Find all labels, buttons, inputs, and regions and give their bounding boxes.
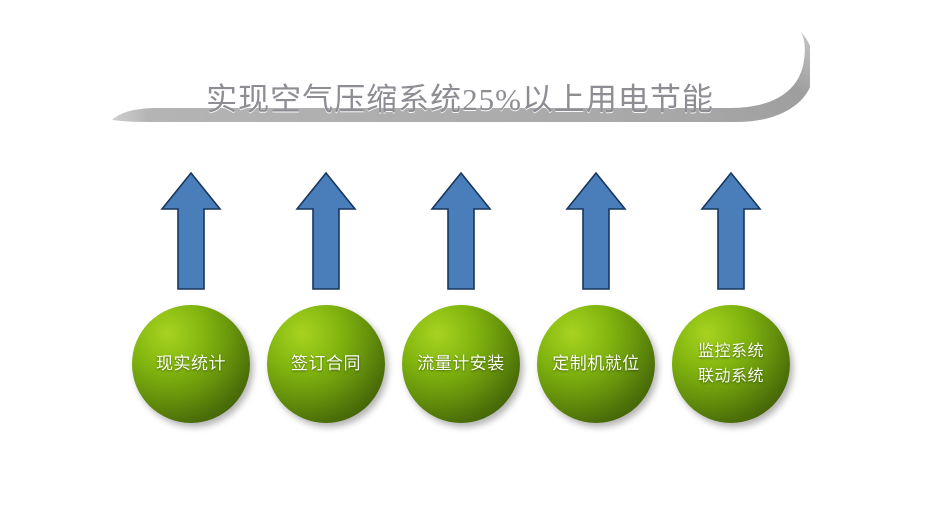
process-node-1[interactable]: 现实统计 bbox=[132, 305, 250, 423]
process-node-label: 流量计安装 bbox=[417, 352, 505, 376]
process-node-3[interactable]: 流量计安装 bbox=[402, 305, 520, 423]
up-arrow-icon-1 bbox=[160, 170, 222, 292]
title-banner: 实现空气压缩系统25%以上用电节能 bbox=[110, 30, 810, 140]
process-node-4[interactable]: 定制机就位 bbox=[537, 305, 655, 423]
process-node-5[interactable]: 监控系统 联动系统 bbox=[672, 305, 790, 423]
up-arrow-icon-5 bbox=[700, 170, 762, 292]
up-arrow-icon-3 bbox=[430, 170, 492, 292]
process-node-2[interactable]: 签订合同 bbox=[267, 305, 385, 423]
process-node-label: 监控系统 联动系统 bbox=[698, 339, 764, 389]
process-node-label: 定制机就位 bbox=[552, 352, 640, 376]
page-title: 实现空气压缩系统25%以上用电节能 bbox=[155, 74, 765, 119]
process-node-label: 签订合同 bbox=[291, 352, 361, 376]
up-arrow-icon-4 bbox=[565, 170, 627, 292]
process-node-label: 现实统计 bbox=[156, 352, 226, 376]
slide-canvas: 实现空气压缩系统25%以上用电节能 现实统计 签订合同 流量计安装 定制机就位 … bbox=[0, 0, 945, 529]
up-arrow-icon-2 bbox=[295, 170, 357, 292]
